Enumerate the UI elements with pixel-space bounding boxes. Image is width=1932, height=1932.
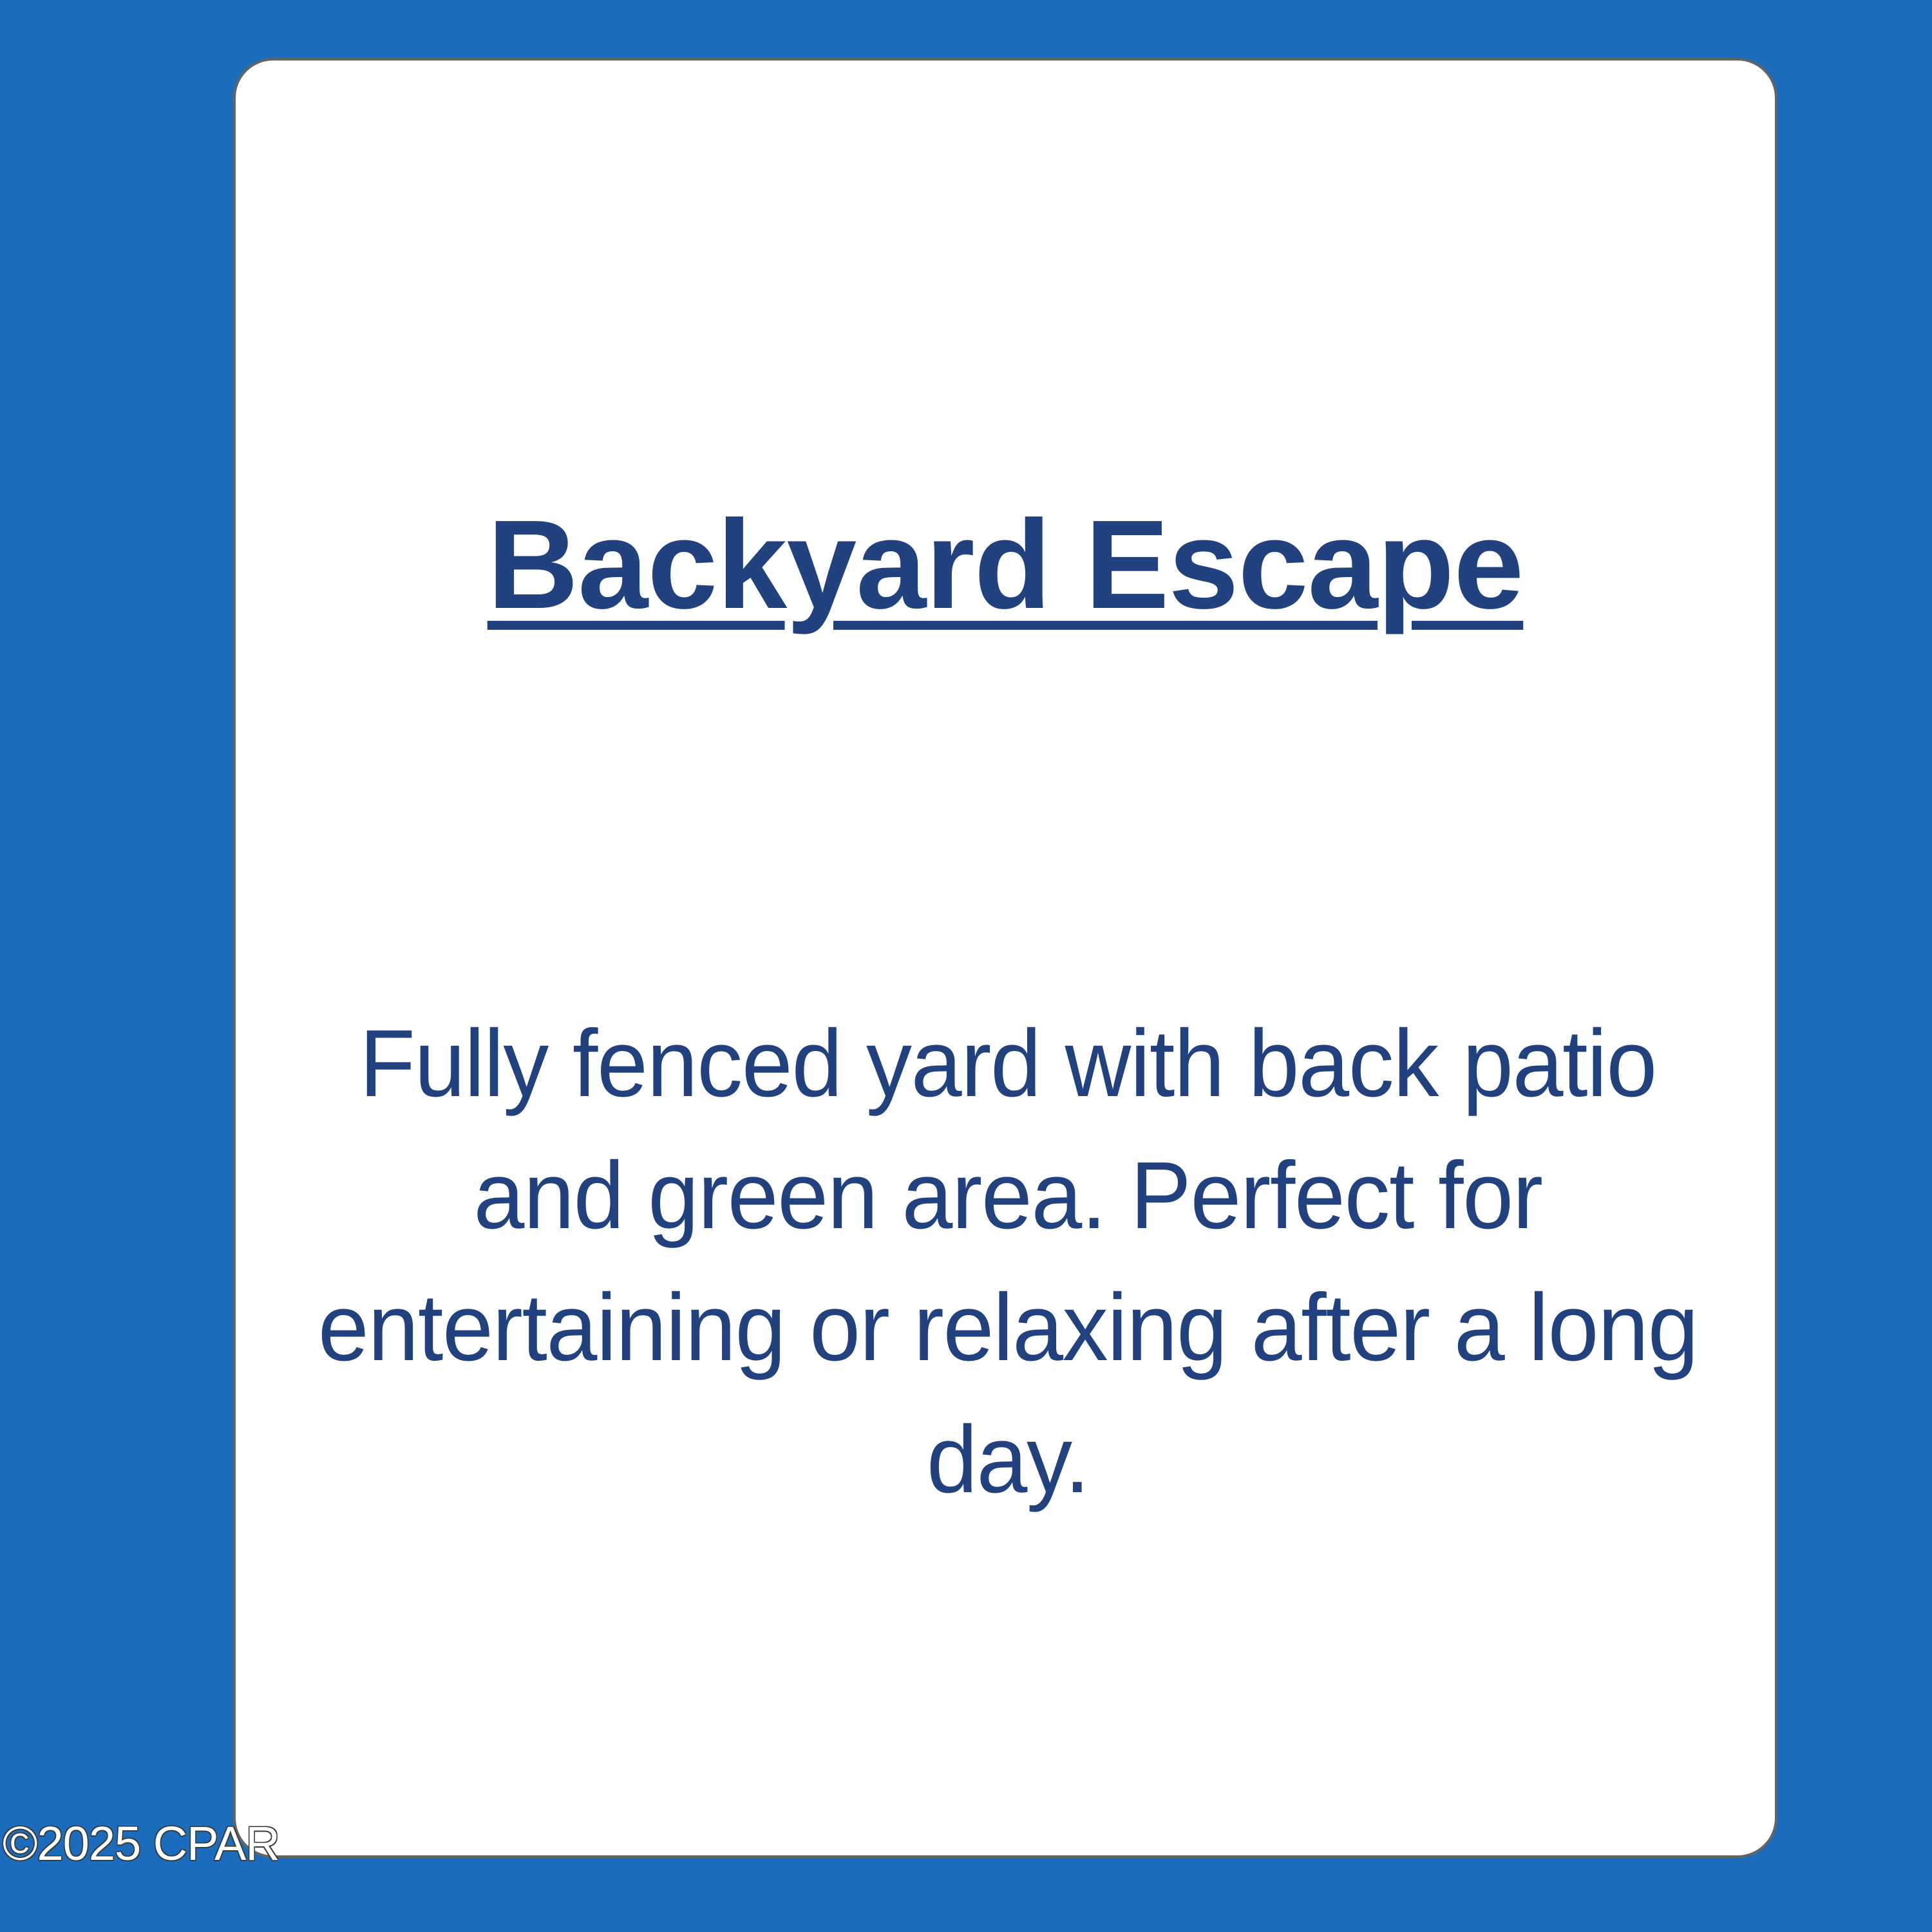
description-container: Fully fenced yard with back patio and gr… — [274, 998, 1741, 1526]
title-container: Backyard Escape — [236, 498, 1775, 631]
content-card: Backyard Escape Fully fenced yard with b… — [233, 58, 1777, 1858]
slide-canvas: Backyard Escape Fully fenced yard with b… — [0, 0, 1932, 1932]
description-text: Fully fenced yard with back patio and gr… — [304, 998, 1712, 1526]
page-title: Backyard Escape — [488, 498, 1524, 631]
copyright-watermark: ©2025 CPAR — [3, 1820, 279, 1868]
